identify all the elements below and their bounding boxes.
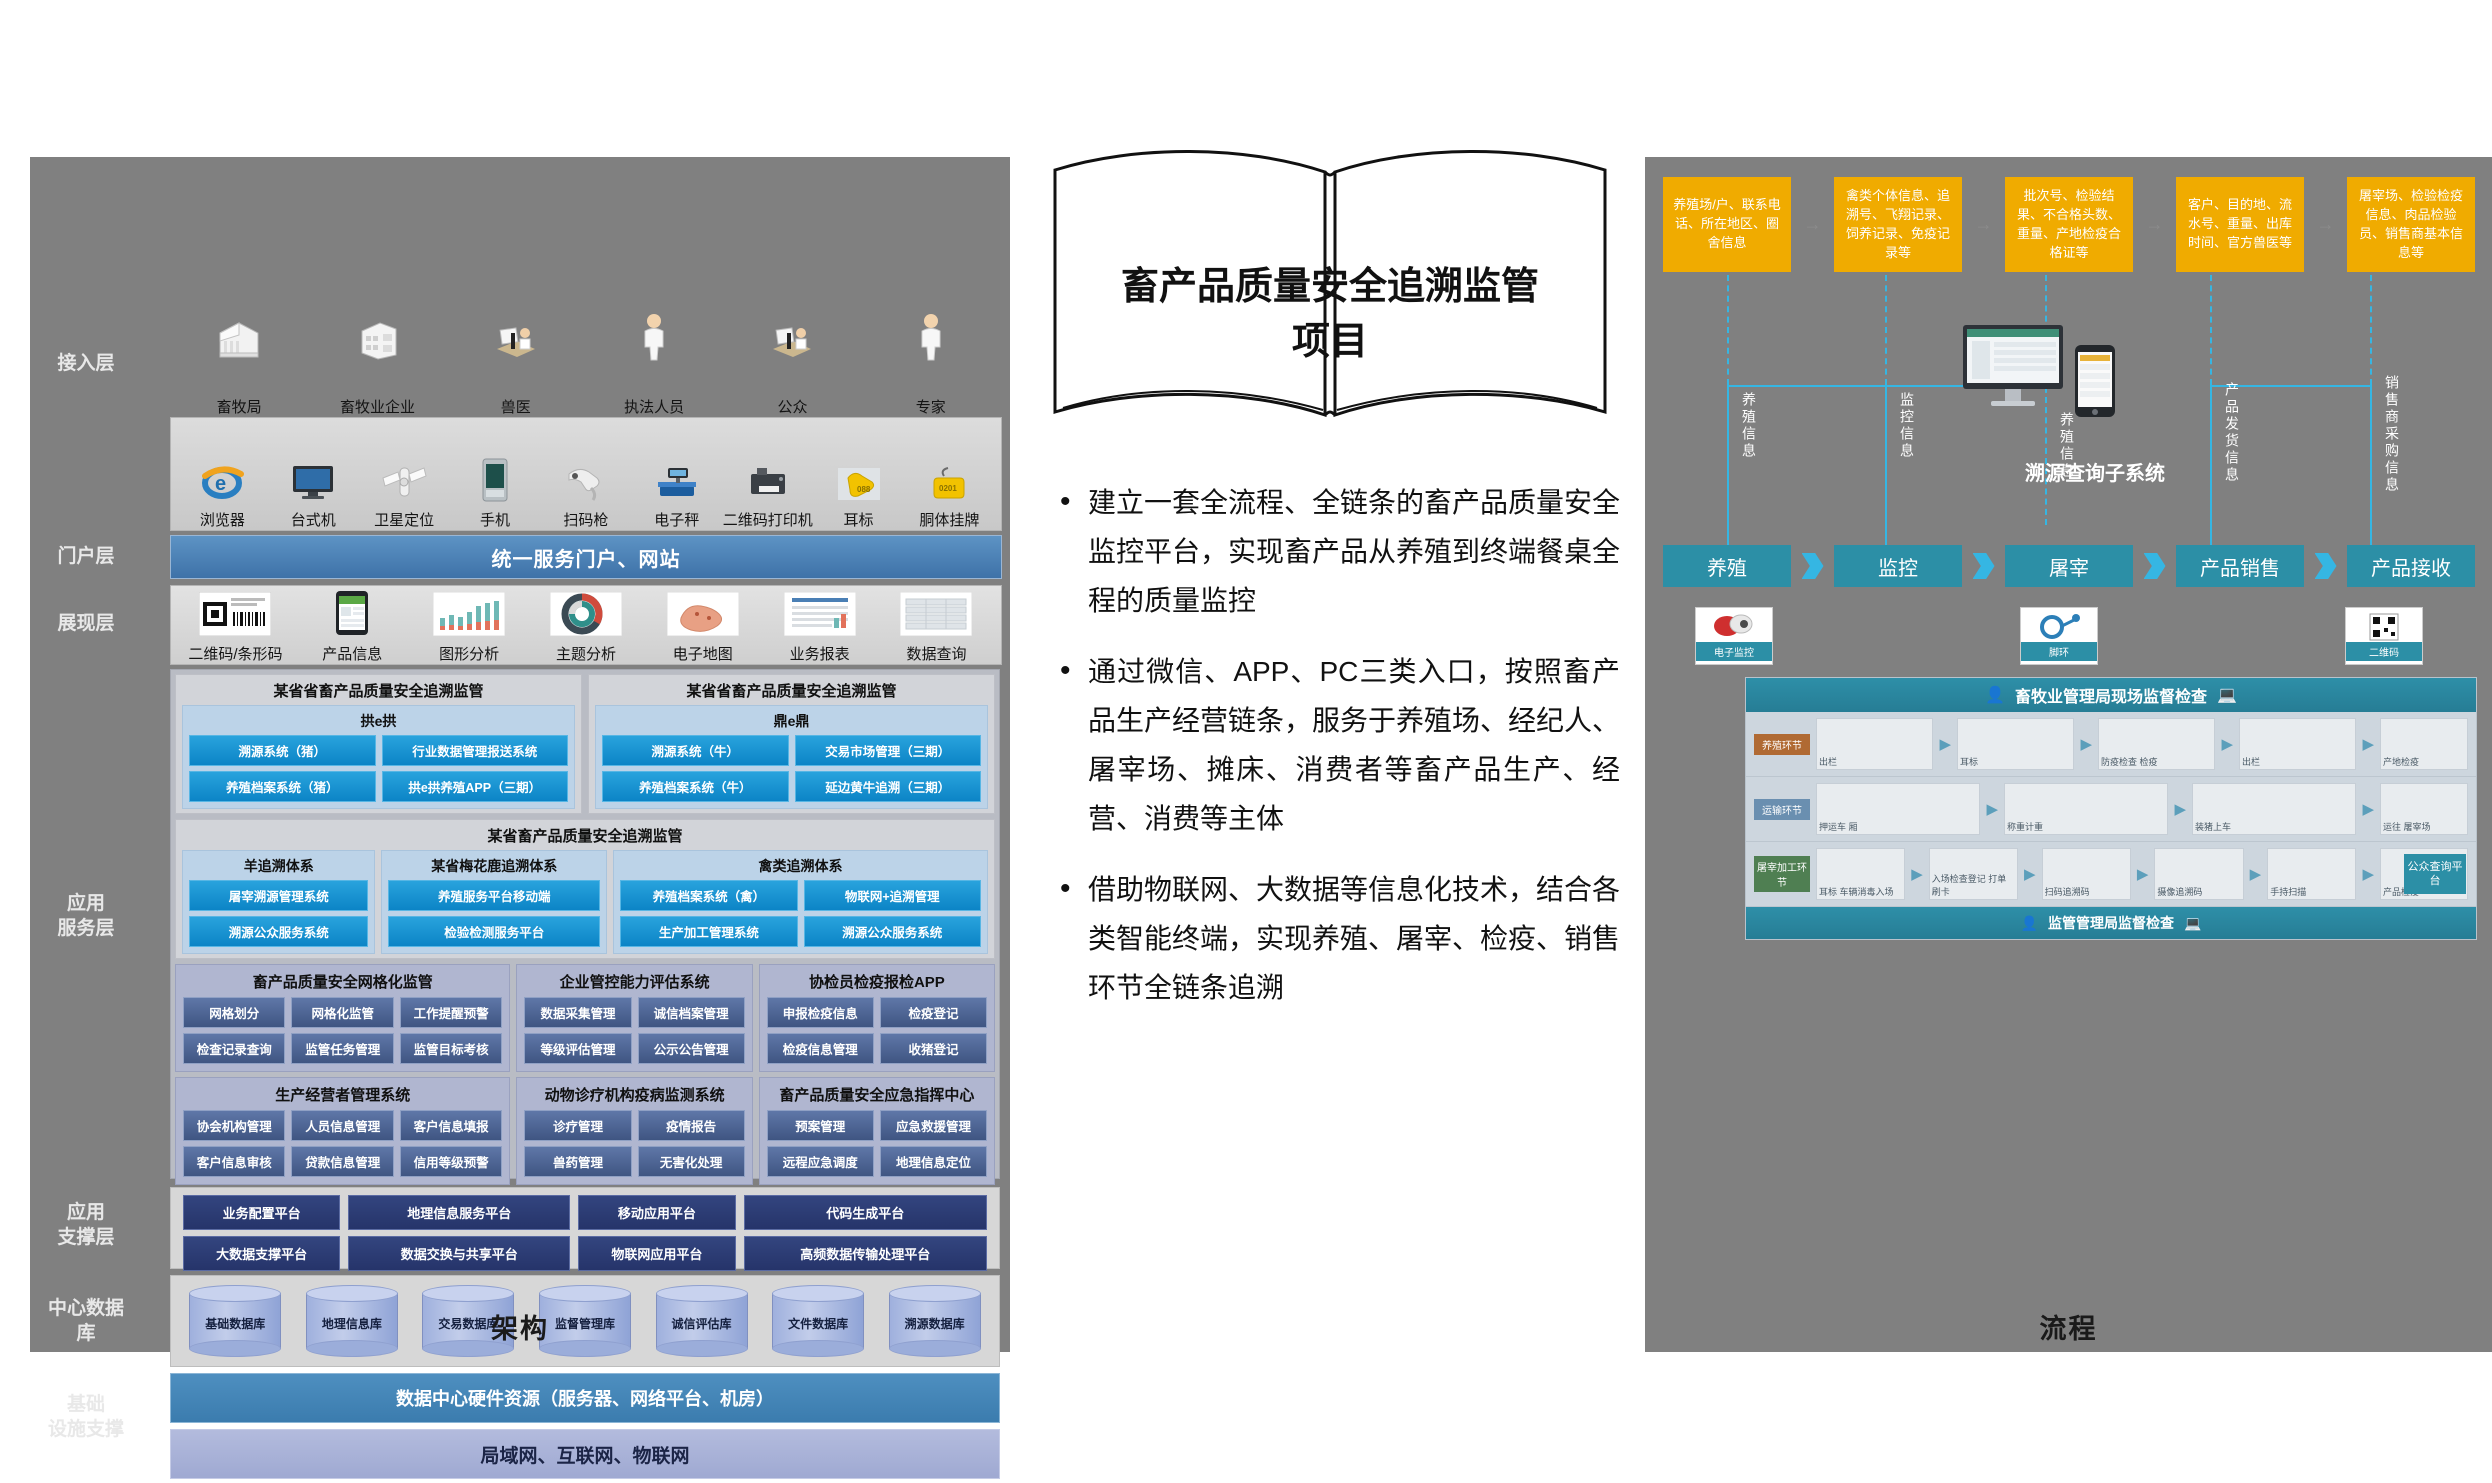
thumb-caption: 押运车 厢 — [1819, 820, 1858, 833]
device-7: 088耳标 — [816, 466, 902, 530]
group-title: 某省省畜产品质量安全追溯监管 — [595, 680, 988, 701]
flow-label: 销售商采购信息 — [2382, 375, 2402, 494]
support-row-1: 业务配置平台地理信息服务平台移动应用平台代码生成平台 — [183, 1195, 987, 1230]
svg-text:088: 088 — [857, 485, 871, 494]
supervision-header-label: 畜牧业管理局现场监督检查 — [2015, 683, 2207, 707]
app-button[interactable]: 交易市场管理（三期） — [795, 735, 982, 766]
app-button[interactable]: 信用等级预警 — [400, 1146, 502, 1177]
public-icon — [769, 319, 815, 366]
app-button[interactable]: 溯源公众服务系统 — [189, 916, 368, 947]
photo-thumbnail: 摄像追溯码 — [2154, 848, 2243, 900]
electronic-scale-icon — [654, 462, 700, 507]
thumb-caption: 耳标 — [1960, 755, 1978, 768]
arrow-right-icon: ▶ — [2024, 865, 2036, 883]
application-support-area: 业务配置平台地理信息服务平台移动应用平台代码生成平台 大数据支撑平台数据交换与共… — [170, 1187, 1000, 1269]
subgroup-sheep: 羊追溯体系 屠宰溯源管理系统 溯源公众服务系统 — [182, 850, 375, 954]
app-button[interactable]: 拱e拱养殖APP（三期） — [382, 771, 569, 802]
app-button[interactable]: 监管目标考核 — [400, 1033, 502, 1064]
thumb-caption: 产地检疫 — [2383, 755, 2419, 768]
infrastructure-area: 数据中心硬件资源（服务器、网络平台、机房） 局域网、互联网、物联网 — [170, 1373, 1000, 1483]
qr-printer-icon — [745, 462, 791, 507]
display-item-5[interactable]: 业务报表 — [767, 592, 873, 664]
summary-bullet: 借助物联网、大数据等信息化技术，结合各类智能终端，实现养殖、屠宰、检疫、销售环节… — [1058, 865, 1620, 1012]
chevron-right-icon — [2144, 553, 2166, 579]
photo-thumbnail: 押运车 厢 — [1816, 783, 1980, 835]
product-info-phone-icon — [335, 590, 369, 641]
device-8: 0201胴体挂牌 — [906, 466, 992, 530]
arrow-right-icon: ▶ — [2362, 865, 2374, 883]
thumb-caption: 手持扫描 — [2270, 885, 2306, 898]
supervision-row: 屠宰加工环节耳标 车辆消毒入场▶入场检查登记 打单 刷卡▶扫码追溯码▶摄像追溯码… — [1746, 842, 2476, 907]
device-0: e浏览器 — [179, 462, 265, 530]
bar-chart-icon — [433, 592, 505, 641]
app-button[interactable]: 预案管理 — [767, 1110, 874, 1141]
supervision-rows: 养殖环节出栏▶耳标▶防疫检查 检疫▶出栏▶产地检疫运输环节押运车 厢▶称重计重▶… — [1746, 712, 2476, 907]
arrow-right-icon: ▶ — [1911, 865, 1923, 883]
supervision-row: 运输环节押运车 厢▶称重计重▶装猪上车▶运往 屠宰场 — [1746, 777, 2476, 842]
app-button[interactable]: 溯源公众服务系统 — [804, 916, 981, 947]
app-button[interactable]: 贷款信息管理 — [291, 1146, 393, 1177]
office-building-icon — [354, 319, 400, 366]
app-button[interactable]: 收猪登记 — [880, 1033, 987, 1064]
connector-solid — [1727, 385, 1967, 387]
leg-ring-device: 脚环 — [2020, 607, 2098, 665]
stage-1[interactable]: 监控 — [1834, 545, 1962, 587]
connector-solid — [1727, 385, 1729, 545]
app-button[interactable]: 溯源系统（猪） — [189, 735, 376, 766]
arrow-right-icon: ▶ — [2174, 800, 2186, 818]
stage-3[interactable]: 产品销售 — [2176, 545, 2304, 587]
support-platform-button[interactable]: 代码生成平台 — [744, 1195, 987, 1230]
thumb-caption: 扫码追溯码 — [2045, 885, 2090, 898]
support-platform-button[interactable]: 物联网应用平台 — [578, 1236, 735, 1271]
stage-tag: 屠宰加工环节 — [1754, 856, 1810, 892]
group-title: 协检员检疫报检APP — [767, 971, 987, 992]
app-button[interactable]: 物联网+追溯管理 — [804, 880, 981, 911]
app-button[interactable]: 应急救援管理 — [880, 1110, 987, 1141]
device-6: 二维码打印机 — [725, 462, 811, 530]
photo-thumbnail: 耳标 — [1957, 718, 2074, 770]
support-platform-button[interactable]: 业务配置平台 — [183, 1195, 340, 1230]
info-box: 批次号、检验结果、不合格头数、重量、产地检疫合格证等 — [2005, 177, 2133, 272]
app-button[interactable]: 疫情报告 — [638, 1110, 745, 1141]
connector-dashed — [2210, 275, 2212, 385]
map-icon — [667, 592, 739, 641]
connector-solid — [1885, 385, 1887, 545]
device-label: 耳标 — [844, 509, 874, 530]
support-row-2: 大数据支撑平台数据交换与共享平台物联网应用平台高频数据传输处理平台 — [183, 1236, 987, 1271]
app-button[interactable]: 检查记录查询 — [183, 1033, 285, 1064]
app-button[interactable]: 诚信档案管理 — [638, 997, 745, 1028]
subsystem-title: 溯源查询子系统 — [1965, 457, 2225, 486]
subgroup-dingeding: 鼎e鼎 溯源系统（牛） 交易市场管理（三期） 养殖档案系统（牛） 延边黄牛追溯（… — [595, 705, 988, 809]
app-group: 动物诊疗机构疫病监测系统诊疗管理疫情报告兽药管理无害化处理 — [516, 1077, 752, 1185]
app-button[interactable]: 地理信息定位 — [880, 1146, 987, 1177]
svg-text:0201: 0201 — [939, 484, 957, 493]
arrow-right-icon: ▶ — [2362, 735, 2374, 753]
device-label: 电子秤 — [654, 509, 699, 530]
stage-2[interactable]: 屠宰 — [2005, 545, 2133, 587]
info-box: 养殖场/户、联系电话、所在地区、圈舍信息 — [1663, 177, 1791, 272]
device-caption: 脚环 — [2021, 642, 2097, 661]
process-panel-title: 流程 — [1645, 1307, 2492, 1346]
thumb-caption: 防疫检查 检疫 — [2101, 755, 2158, 768]
arrow-right-icon: ▶ — [2137, 865, 2149, 883]
info-box: 禽类个体信息、追溯号、飞翔记录、饲养记录、免疫记录等 — [1834, 177, 1962, 272]
app-button[interactable]: 数据采集管理 — [524, 997, 631, 1028]
app-button[interactable]: 检验检测服务平台 — [388, 916, 600, 947]
app-group-row-4: 生产经营者管理系统协会机构管理人员信息管理客户信息填报客户信息审核贷款信息管理信… — [175, 1077, 995, 1185]
arrow-right-icon: → — [1804, 214, 1822, 235]
veterinarian-icon — [493, 319, 539, 366]
flow-label: 产品发货信息 — [2222, 382, 2242, 484]
architecture-panel-title: 架构 — [30, 1307, 1010, 1346]
photo-thumbnail: 出栏 — [1816, 718, 1933, 770]
browser-icon: e — [199, 462, 245, 507]
connector-dashed — [1727, 275, 1729, 385]
qr-barcode-icon — [199, 592, 271, 641]
display-item-label: 图形分析 — [439, 643, 499, 664]
display-item-1[interactable]: 产品信息 — [299, 590, 405, 664]
subgroup-gongegong: 拱e拱 溯源系统（猪） 行业数据管理报送系统 养殖档案系统（猪） 拱e拱养殖AP… — [182, 705, 575, 809]
app-group: 生产经营者管理系统协会机构管理人员信息管理客户信息填报客户信息审核贷款信息管理信… — [175, 1077, 510, 1185]
display-item-label: 产品信息 — [322, 643, 382, 664]
connector-dashed — [1885, 275, 1887, 385]
app-group-species: 某省畜产品质量安全追溯监管 羊追溯体系 屠宰溯源管理系统 溯源公众服务系统 某省… — [175, 819, 995, 959]
subgroup-poultry: 禽类追溯体系 养殖档案系统（禽） 物联网+追溯管理 生产加工管理系统 溯源公众服… — [613, 850, 988, 954]
photo-thumbnail: 装猪上车 — [2192, 783, 2356, 835]
photo-thumbnail: 防疫检查 检疫 — [2098, 718, 2215, 770]
group-title: 动物诊疗机构疫病监测系统 — [524, 1084, 744, 1105]
device-label: 胴体挂牌 — [919, 509, 979, 530]
app-group-cattle: 某省省畜产品质量安全追溯监管 鼎e鼎 溯源系统（牛） 交易市场管理（三期） 养殖… — [588, 674, 995, 814]
role-5: 专家 — [881, 313, 981, 417]
app-button[interactable]: 养殖服务平台移动端 — [388, 880, 600, 911]
subgroup-title: 羊追溯体系 — [189, 856, 368, 876]
application-service-area: 某省省畜产品质量安全追溯监管 拱e拱 溯源系统（猪） 行业数据管理报送系统 养殖… — [170, 669, 1000, 1179]
display-item-label: 业务报表 — [790, 643, 850, 664]
photo-thumbnail: 产地检疫 — [2380, 718, 2468, 770]
device-label: 二维码打印机 — [723, 509, 813, 530]
app-button[interactable]: 兽药管理 — [524, 1146, 631, 1177]
device-5: 电子秤 — [634, 462, 720, 530]
data-query-icon — [900, 592, 972, 641]
subgroup-deer: 某省梅花鹿追溯体系 养殖服务平台移动端 检验检测服务平台 — [381, 850, 607, 954]
display-items-row: 二维码/条形码产品信息图形分析主题分析电子地图业务报表数据查询 — [171, 586, 1001, 664]
arrow-right-icon: ▶ — [2362, 800, 2374, 818]
inspector-icon: 👤 — [1985, 685, 2005, 705]
app-button[interactable]: 溯源系统（牛） — [602, 735, 789, 766]
project-title: 畜产品质量安全追溯监管项目 — [1105, 260, 1555, 370]
app-button[interactable]: 监管任务管理 — [291, 1033, 393, 1064]
supervision-row: 养殖环节出栏▶耳标▶防疫检查 检疫▶出栏▶产地检疫 — [1746, 712, 2476, 777]
supervision-footer-label: 监管管理局监督检查 — [2048, 913, 2174, 933]
photo-thumbnail: 入场检查登记 打单 刷卡 — [1929, 848, 2018, 900]
subgroup-title: 禽类追溯体系 — [620, 856, 981, 876]
subgroup-title: 鼎e鼎 — [602, 711, 981, 731]
overview-panel: 畜产品质量安全追溯监管项目 建立一套全流程、全链条的畜产品质量安全监控平台，实现… — [1040, 140, 1620, 1300]
photo-thumbnail: 称重计重 — [2004, 783, 2168, 835]
app-button[interactable]: 网格化监管 — [291, 997, 393, 1028]
group-title: 生产经营者管理系统 — [183, 1084, 502, 1105]
summary-bullet: 通过微信、APP、PC三类入口，按照畜产品生产经营链条，服务于养殖场、经纪人、屠… — [1058, 647, 1620, 843]
desktop-icon — [290, 462, 336, 507]
info-boxes-row: 养殖场/户、联系电话、所在地区、圈舍信息→禽类个体信息、追溯号、飞翔记录、饲养记… — [1663, 177, 2475, 272]
app-button[interactable]: 人员信息管理 — [291, 1110, 393, 1141]
info-box: 客户、目的地、流水号、重量、出库时间、官方兽医等 — [2176, 177, 2304, 272]
display-item-4[interactable]: 电子地图 — [650, 592, 756, 664]
thumb-caption: 耳标 车辆消毒入场 — [1819, 885, 1894, 898]
arrow-right-icon: → — [2317, 214, 2335, 235]
mobile-phone-icon — [480, 458, 510, 507]
carcass-tag-icon: 0201 — [926, 466, 972, 507]
thumb-caption: 出栏 — [2242, 755, 2260, 768]
government-building-icon — [216, 319, 262, 366]
person-icon — [639, 313, 669, 366]
role-2: 兽医 — [466, 319, 566, 417]
network-bar: 局域网、互联网、物联网 — [170, 1429, 1000, 1479]
thumb-caption: 摄像追溯码 — [2157, 885, 2202, 898]
arrow-right-icon: ▶ — [2080, 735, 2092, 753]
connector-dashed — [2370, 275, 2372, 385]
app-button[interactable]: 客户信息审核 — [183, 1146, 285, 1177]
layer-label-app-service-2: 服务层 — [38, 917, 134, 941]
inspector-icon: 👤 — [2021, 915, 2038, 932]
app-button[interactable]: 生产加工管理系统 — [620, 916, 797, 947]
layer-label-display: 展现层 — [38, 612, 134, 636]
device-label: 浏览器 — [200, 509, 245, 530]
display-item-label: 数据查询 — [906, 643, 966, 664]
thumb-caption: 出栏 — [1819, 755, 1837, 768]
app-button[interactable]: 协会机构管理 — [183, 1110, 285, 1141]
layer-label-app-support-2: 支撑层 — [38, 1226, 134, 1250]
process-panel: 养殖场/户、联系电话、所在地区、圈舍信息→禽类个体信息、追溯号、飞翔记录、饲养记… — [1645, 157, 2492, 1352]
desktop-monitor-icon — [1963, 325, 2071, 420]
device-4: 扫码枪 — [543, 462, 629, 530]
access-layer-box: e浏览器台式机卫星定位手机扫码枪电子秤二维码打印机088耳标0201胴体挂牌 — [170, 417, 1002, 531]
support-platform-button[interactable]: 高频数据传输处理平台 — [744, 1236, 987, 1271]
devices-row: e浏览器台式机卫星定位手机扫码枪电子秤二维码打印机088耳标0201胴体挂牌 — [171, 418, 1001, 530]
monitor-icon: 💻 — [2217, 685, 2237, 705]
photo-thumbnail: 运往 屠宰场 — [2380, 783, 2468, 835]
summary-bullet: 建立一套全流程、全链条的畜产品质量安全监控平台，实现畜产品从养殖到终端餐桌全程的… — [1058, 478, 1620, 625]
device-caption: 电子监控 — [1696, 642, 1772, 661]
group-title: 畜产品质量安全网格化监管 — [183, 971, 502, 992]
thumb-caption: 运往 屠宰场 — [2383, 820, 2431, 833]
app-button[interactable]: 行业数据管理报送系统 — [382, 735, 569, 766]
app-group: 畜产品质量安全网格化监管网格划分网格化监管工作提醒预警检查记录查询监管任务管理监… — [175, 964, 510, 1072]
group-title: 企业管控能力评估系统 — [524, 971, 744, 992]
device-2: 卫星定位 — [361, 462, 447, 530]
app-button[interactable]: 养殖档案系统（禽） — [620, 880, 797, 911]
barcode-scanner-icon — [563, 462, 609, 507]
display-item-6[interactable]: 数据查询 — [883, 592, 989, 664]
donut-chart-icon — [550, 592, 622, 641]
stage-tag: 运输环节 — [1754, 799, 1810, 820]
app-group-pig: 某省省畜产品质量安全追溯监管 拱e拱 溯源系统（猪） 行业数据管理报送系统 养殖… — [175, 674, 582, 814]
chevron-right-icon — [2315, 553, 2337, 579]
group-title: 畜产品质量安全应急指挥中心 — [767, 1084, 987, 1105]
role-label: 兽医 — [501, 396, 531, 417]
satellite-icon — [381, 462, 427, 507]
stage-0[interactable]: 养殖 — [1663, 545, 1791, 587]
arrow-right-icon: ▶ — [2221, 735, 2233, 753]
role-label: 专家 — [916, 396, 946, 417]
mobile-phone-icon — [2075, 345, 2115, 422]
display-item-label: 电子地图 — [673, 643, 733, 664]
role-label: 畜牧局 — [217, 396, 262, 417]
layer-label-app-support-1: 应用 — [38, 1201, 134, 1225]
layer-label-access: 接入层 — [38, 352, 134, 376]
display-item-0[interactable]: 二维码/条形码 — [182, 592, 288, 664]
architecture-panel: 接入层 门户层 展现层 应用 服务层 应用 支撑层 中心数据 库 基础 设施支撑… — [30, 157, 1010, 1352]
public-query-platform[interactable]: 公众查询平台 — [2404, 854, 2466, 895]
app-button[interactable]: 远程应急调度 — [767, 1146, 874, 1177]
arrow-right-icon: ▶ — [2250, 865, 2262, 883]
display-item-label: 二维码/条形码 — [188, 643, 282, 664]
device-label: 手机 — [480, 509, 510, 530]
role-label: 畜牧业企业 — [340, 396, 415, 417]
role-0: 畜牧局 — [189, 319, 289, 417]
arrow-right-icon: ▶ — [1986, 800, 1998, 818]
chevron-right-icon — [1973, 553, 1995, 579]
report-icon — [784, 592, 856, 641]
photo-thumbnail: 出栏 — [2239, 718, 2356, 770]
ear-tag-icon: 088 — [836, 466, 882, 507]
app-button[interactable]: 无害化处理 — [638, 1146, 745, 1177]
arrow-right-icon: → — [2146, 214, 2164, 235]
hardware-bar: 数据中心硬件资源（服务器、网络平台、机房） — [170, 1373, 1000, 1423]
role-label: 公众 — [777, 396, 807, 417]
device-label: 台式机 — [291, 509, 336, 530]
thumb-caption: 入场检查登记 打单 刷卡 — [1932, 872, 2017, 898]
app-button[interactable]: 养殖档案系统（猪） — [189, 771, 376, 802]
app-button[interactable]: 养殖档案系统（牛） — [602, 771, 789, 802]
supervision-header: 👤 畜牧业管理局现场监督检查 💻 — [1746, 678, 2476, 712]
display-layer-box: 二维码/条形码产品信息图形分析主题分析电子地图业务报表数据查询 — [170, 585, 1002, 665]
support-platform-button[interactable]: 数据交换与共享平台 — [348, 1236, 570, 1271]
app-button[interactable]: 屠宰溯源管理系统 — [189, 880, 368, 911]
role-4: 公众 — [742, 319, 842, 417]
app-group: 协检员检疫报检APP申报检疫信息检疫登记检疫信息管理收猪登记 — [759, 964, 995, 1072]
app-group: 畜产品质量安全应急指挥中心预案管理应急救援管理远程应急调度地理信息定位 — [759, 1077, 995, 1185]
qr-code-device: 二维码 — [2345, 607, 2423, 665]
subgroup-title: 拱e拱 — [189, 711, 568, 731]
supervision-area: 👤 畜牧业管理局现场监督检查 💻 养殖环节出栏▶耳标▶防疫检查 检疫▶出栏▶产地… — [1745, 677, 2477, 940]
stage-4[interactable]: 产品接收 — [2347, 545, 2475, 587]
app-button[interactable]: 客户信息填报 — [400, 1110, 502, 1141]
app-button[interactable]: 检疫信息管理 — [767, 1033, 874, 1064]
flow-label: 养殖信息 — [1739, 392, 1759, 460]
group-title: 某省畜产品质量安全追溯监管 — [182, 825, 988, 846]
expert-icon — [916, 313, 946, 366]
arrow-right-icon: ▶ — [1939, 735, 1951, 753]
app-button[interactable]: 公示公告管理 — [638, 1033, 745, 1064]
support-platform-button[interactable]: 大数据支撑平台 — [183, 1236, 340, 1271]
device-3: 手机 — [452, 458, 538, 530]
device-label: 扫码枪 — [563, 509, 608, 530]
role-3: 执法人员 — [604, 313, 704, 417]
portal-bar: 统一服务门户、网站 — [170, 535, 1002, 579]
photo-thumbnail: 耳标 车辆消毒入场 — [1816, 848, 1905, 900]
connector-solid — [2370, 385, 2372, 545]
supervision-footer: 👤 监管管理局监督检查 💻 — [1746, 907, 2476, 939]
display-item-3[interactable]: 主题分析 — [533, 592, 639, 664]
subgroup-title: 某省梅花鹿追溯体系 — [388, 856, 600, 876]
flow-label: 监控信息 — [1897, 392, 1917, 460]
info-box: 屠宰场、检验检疫信息、肉品检验员、销售商基本信息等 — [2347, 177, 2475, 272]
support-platform-button[interactable]: 移动应用平台 — [578, 1195, 735, 1230]
support-platform-button[interactable]: 地理信息服务平台 — [348, 1195, 570, 1230]
role-1: 畜牧业企业 — [327, 319, 427, 417]
group-title: 某省省畜产品质量安全追溯监管 — [182, 680, 575, 701]
stage-tag: 养殖环节 — [1754, 734, 1810, 755]
app-button[interactable]: 检疫登记 — [880, 997, 987, 1028]
photo-thumbnail: 手持扫描 — [2267, 848, 2356, 900]
app-group-row-3: 畜产品质量安全网格化监管网格划分网格化监管工作提醒预警检查记录查询监管任务管理监… — [175, 964, 995, 1072]
stages-row: 养殖监控屠宰产品销售产品接收 — [1663, 545, 2475, 587]
photo-thumbnail: 扫码追溯码 — [2042, 848, 2131, 900]
device-label: 卫星定位 — [374, 509, 434, 530]
svg-text:e: e — [215, 473, 226, 495]
layer-label-portal: 门户层 — [38, 545, 134, 569]
chevron-right-icon — [1802, 553, 1824, 579]
app-button[interactable]: 工作提醒预警 — [400, 997, 502, 1028]
monitor-icon: 💻 — [2184, 915, 2201, 932]
open-book-graphic: 畜产品质量安全追溯监管项目 — [1045, 140, 1615, 430]
app-group: 企业管控能力评估系统数据采集管理诚信档案管理等级评估管理公示公告管理 — [516, 964, 752, 1072]
layer-label-app-service-1: 应用 — [38, 892, 134, 916]
layer-label-infra-1: 基础 — [38, 1393, 134, 1417]
thumb-caption: 称重计重 — [2007, 820, 2043, 833]
app-button[interactable]: 申报检疫信息 — [767, 997, 874, 1028]
summary-bullets: 建立一套全流程、全链条的畜产品质量安全监控平台，实现畜产品从养殖到终端餐桌全程的… — [1040, 478, 1620, 1012]
layer-label-infra-2: 设施支撑 — [38, 1418, 134, 1442]
roles-row: 畜牧局畜牧业企业兽医执法人员公众专家 — [170, 325, 1000, 417]
app-button[interactable]: 等级评估管理 — [524, 1033, 631, 1064]
app-button[interactable]: 网格划分 — [183, 997, 285, 1028]
device-caption: 二维码 — [2346, 642, 2422, 661]
device-1: 台式机 — [270, 462, 356, 530]
display-item-2[interactable]: 图形分析 — [416, 592, 522, 664]
thumb-caption: 装猪上车 — [2195, 820, 2231, 833]
app-button[interactable]: 延边黄牛追溯（三期） — [795, 771, 982, 802]
arrow-right-icon: → — [1975, 214, 1993, 235]
display-item-label: 主题分析 — [556, 643, 616, 664]
role-label: 执法人员 — [624, 396, 684, 417]
app-button[interactable]: 诊疗管理 — [524, 1110, 631, 1141]
cctv-device: 电子监控 — [1695, 607, 1773, 665]
